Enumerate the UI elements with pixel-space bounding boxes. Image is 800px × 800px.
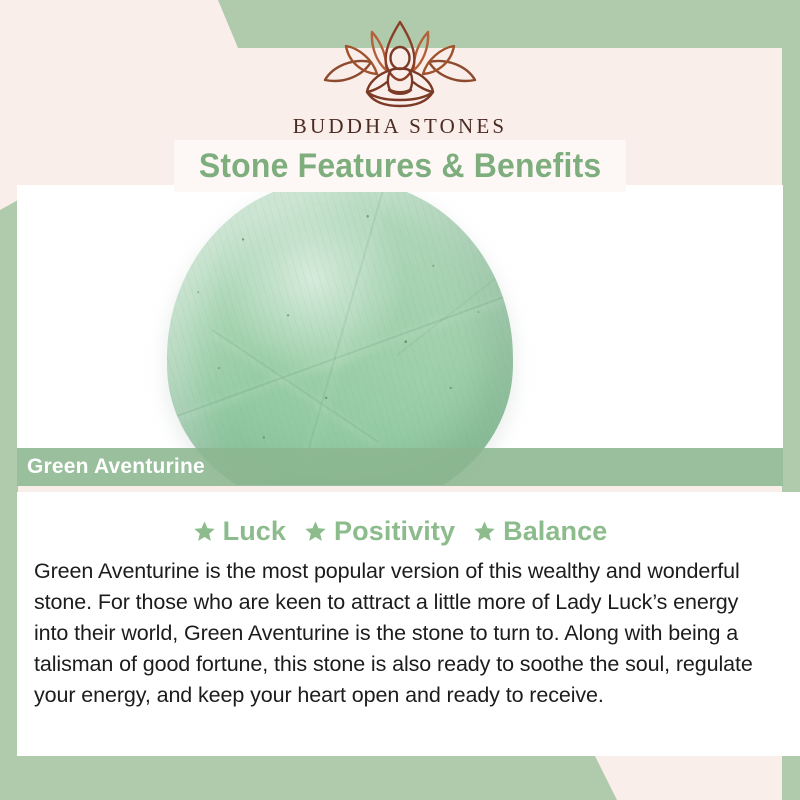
poster-canvas: BUDDHA STONES Stone Features & Benefits … (0, 0, 800, 800)
green-aventurine-stone-image (167, 185, 513, 485)
brand-wordmark: BUDDHA STONES (0, 114, 800, 139)
stone-name-band: Green Aventurine (17, 448, 783, 486)
keyword-item-positivity: Positivity (304, 516, 455, 547)
photo-backdrop (17, 185, 783, 485)
keyword-label: Luck (223, 516, 286, 547)
stone-description: Green Aventurine is the most popular ver… (34, 556, 770, 711)
stone-name-label: Green Aventurine (17, 455, 205, 479)
keyword-label: Positivity (334, 516, 455, 547)
keyword-list: Luck Positivity Balance (17, 516, 783, 547)
frame-accent-bottom (0, 756, 800, 800)
frame-accent-left (0, 200, 18, 800)
star-icon (473, 520, 496, 543)
keyword-item-balance: Balance (473, 516, 607, 547)
brand-logo: BUDDHA STONES (0, 18, 800, 139)
title-banner: Stone Features & Benefits (174, 140, 626, 192)
star-icon (193, 520, 216, 543)
stone-speckle-texture (167, 185, 513, 485)
page-title: Stone Features & Benefits (199, 147, 602, 186)
star-icon (304, 520, 327, 543)
keyword-label: Balance (503, 516, 607, 547)
keyword-item-luck: Luck (193, 516, 286, 547)
lotus-meditation-figure-icon (315, 18, 485, 110)
stone-photo-panel (17, 185, 783, 485)
